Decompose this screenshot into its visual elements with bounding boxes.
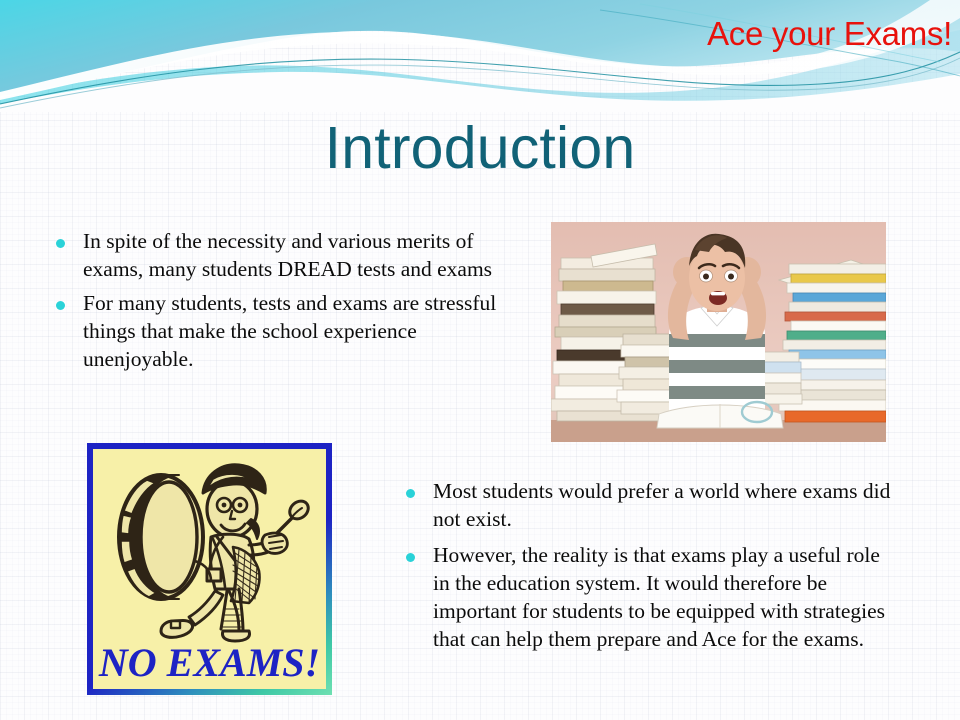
list-item-text: In spite of the necessity and various me… bbox=[83, 229, 492, 281]
bullet-dot-icon bbox=[406, 489, 415, 498]
page-title: Introduction bbox=[0, 118, 960, 180]
list-item: For many students, tests and exams are s… bbox=[48, 290, 516, 374]
no-exams-label: NO EXAMS! bbox=[93, 643, 326, 683]
drummer-boy-icon bbox=[99, 453, 313, 643]
list-item: In spite of the necessity and various me… bbox=[48, 228, 516, 284]
no-exams-clipart: NO EXAMS! bbox=[87, 443, 332, 695]
right-bullet-list: Most students would prefer a world where… bbox=[398, 478, 898, 662]
left-bullet-list: In spite of the necessity and various me… bbox=[48, 228, 516, 380]
presentation-slide: Ace your Exams! Introduction In spite of… bbox=[0, 0, 960, 720]
bullet-dot-icon bbox=[406, 553, 415, 562]
no-exams-clipart-canvas: NO EXAMS! bbox=[93, 449, 326, 689]
list-item-text: For many students, tests and exams are s… bbox=[83, 291, 496, 371]
student-figure bbox=[668, 234, 766, 422]
list-item-text: Most students would prefer a world where… bbox=[433, 479, 890, 531]
bullet-dot-icon bbox=[56, 301, 65, 310]
stressed-student-illustration bbox=[551, 222, 886, 442]
list-item-text: However, the reality is that exams play … bbox=[433, 543, 885, 651]
header-wave-banner: Ace your Exams! bbox=[0, 0, 960, 112]
stressed-student-photo bbox=[551, 222, 886, 442]
header-title: Ace your Exams! bbox=[707, 17, 952, 50]
list-item: Most students would prefer a world where… bbox=[398, 478, 898, 534]
bullet-dot-icon bbox=[56, 239, 65, 248]
list-item: However, the reality is that exams play … bbox=[398, 542, 898, 654]
